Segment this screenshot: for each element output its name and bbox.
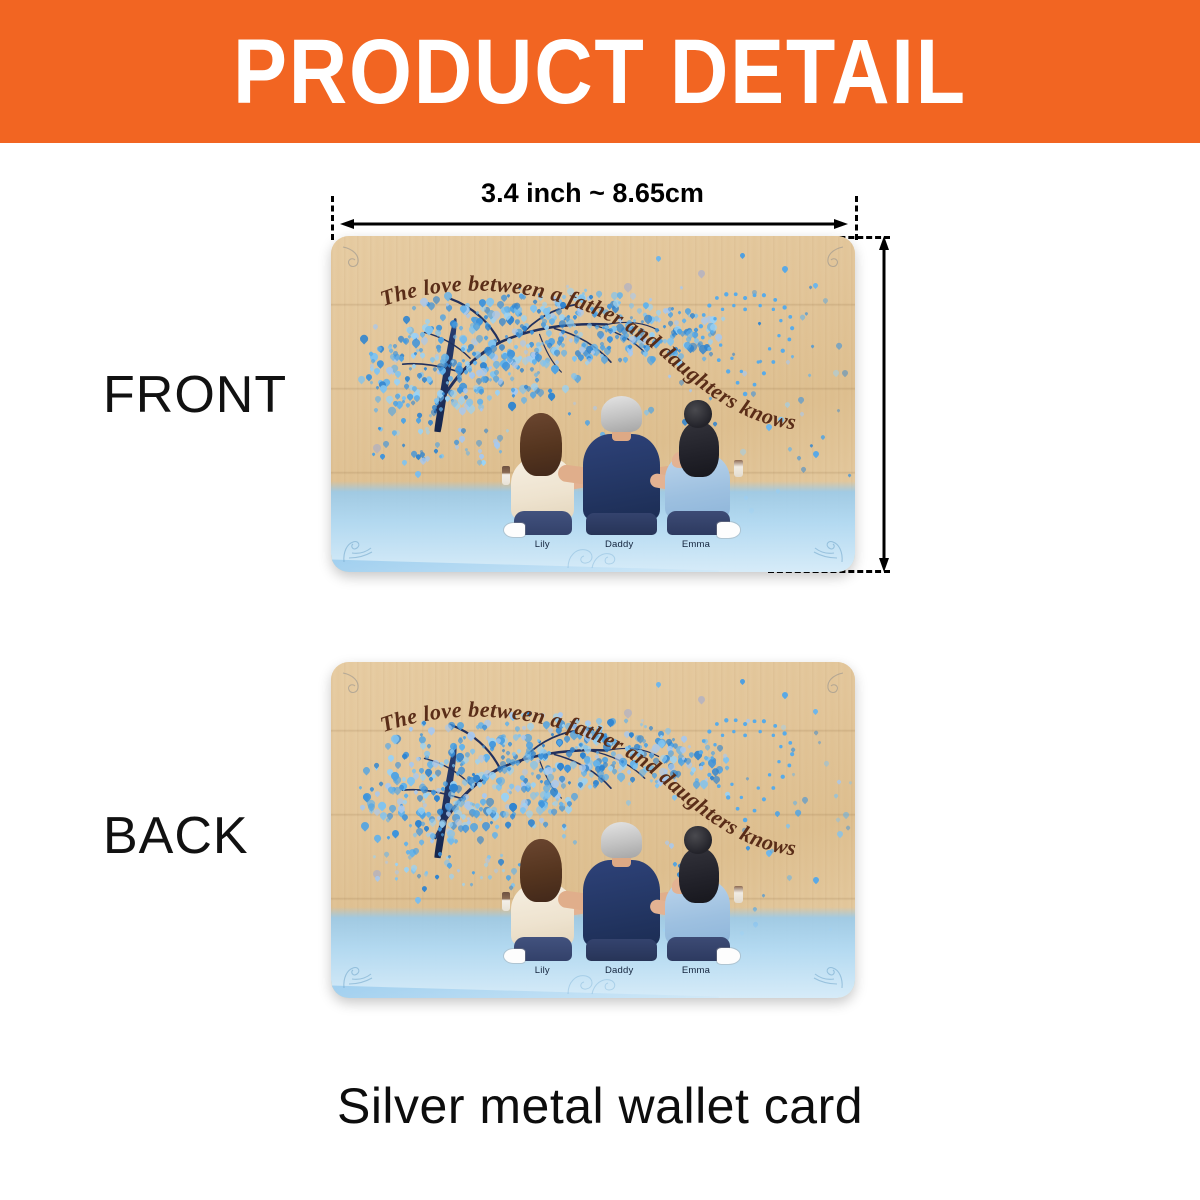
- corner-flourish-icon: [811, 243, 847, 273]
- tree-leaf: [668, 756, 672, 760]
- tree-leaf: [459, 303, 470, 314]
- tree-leaf: [512, 753, 519, 760]
- tree-leaf: [623, 321, 633, 331]
- tree-leaf: [511, 751, 517, 757]
- tree-leaf: [443, 801, 454, 812]
- tree-leaf: [393, 785, 403, 795]
- tree-leaf: [656, 738, 666, 748]
- tree-leaf: [488, 808, 498, 818]
- tree-leaf: [592, 310, 599, 317]
- falling-leaf: [832, 369, 840, 377]
- tree-leaf: [476, 402, 484, 410]
- tree-leaf: [447, 721, 457, 731]
- tree-leaf: [601, 756, 609, 764]
- tree-leaf: [469, 322, 476, 329]
- tree-leaf: [503, 306, 512, 315]
- tree-leaf: [486, 338, 497, 349]
- tree-leaf: [648, 355, 657, 364]
- tree-leaf: [399, 782, 408, 791]
- tree-leaf: [385, 817, 391, 823]
- tree-leaf: [622, 730, 631, 739]
- tree-leaf: [609, 325, 617, 333]
- tree-leaf: [443, 758, 451, 766]
- tree-leaf: [537, 751, 545, 759]
- corner-flourish-icon: [811, 536, 847, 566]
- tree-leaf: [390, 364, 399, 373]
- tree-leaf: [566, 315, 570, 319]
- tree-leaf: [654, 784, 659, 789]
- falling-leaf: [610, 749, 618, 757]
- tree-leaf: [460, 813, 468, 821]
- tree-leaf: [562, 763, 571, 772]
- tree-leaf: [521, 712, 527, 718]
- fallen-leaf: [478, 449, 484, 455]
- tree-leaf: [550, 314, 558, 322]
- tree-leaf: [462, 305, 473, 316]
- tree-leaf: [595, 290, 603, 298]
- tree-leaf: [659, 742, 665, 748]
- tree-leaf: [538, 747, 548, 757]
- fallen-leaf: [434, 875, 439, 880]
- tree-leaf: [541, 318, 548, 325]
- tree-leaf: [482, 306, 490, 314]
- tree-leaf: [498, 343, 507, 352]
- tree-leaf: [473, 388, 477, 392]
- tree-leaf: [457, 381, 468, 392]
- floating-heart-icon: [371, 869, 382, 880]
- tree-leaf: [479, 798, 487, 806]
- tree-leaf: [449, 748, 455, 754]
- falling-leaf: [586, 322, 593, 329]
- tree-leaf: [511, 327, 520, 336]
- tree-leaf: [617, 316, 625, 324]
- tree-leaf: [648, 298, 652, 302]
- tree-leaf: [670, 306, 675, 311]
- tree-leaf: [399, 354, 404, 359]
- tree-leaf: [474, 802, 482, 810]
- tree-leaf: [519, 367, 525, 373]
- fallen-leaf: [377, 426, 381, 430]
- tree-leaf: [378, 781, 383, 786]
- tree-leaf: [475, 310, 480, 315]
- tree-leaf: [478, 388, 485, 395]
- tree-leaf: [578, 742, 583, 747]
- tree-leaf: [392, 400, 399, 407]
- tree-leaf: [432, 794, 441, 803]
- tree-leaf: [538, 754, 545, 761]
- tree-leaf: [373, 808, 381, 816]
- family-figures: [504, 374, 735, 535]
- tree-leaf: [420, 821, 425, 826]
- floating-heart-icon: [623, 281, 634, 292]
- tree-leaf: [373, 762, 380, 769]
- tree-leaf: [655, 309, 662, 316]
- tree-leaf: [471, 783, 475, 787]
- tree-leaf: [436, 362, 446, 372]
- tree-leaf: [468, 325, 478, 335]
- tree-leaf: [555, 343, 560, 348]
- tree-leaf: [582, 349, 591, 358]
- tree-leaf: [587, 784, 592, 789]
- tree-leaf: [577, 331, 584, 338]
- tree-leaf: [535, 759, 540, 764]
- tree-leaf: [628, 335, 637, 344]
- tree-leaf: [550, 295, 556, 301]
- tree-leaf: [504, 722, 509, 727]
- fallen-leaf: [434, 441, 441, 448]
- tree-leaf: [608, 716, 618, 726]
- tree-leaf: [396, 804, 407, 815]
- tree-leaf: [406, 325, 415, 334]
- tree-leaf: [436, 808, 444, 816]
- tree-leaf: [499, 352, 508, 361]
- tree-leaf: [533, 352, 543, 362]
- tree-leaf: [514, 317, 522, 325]
- tree-leaf: [457, 823, 466, 832]
- falling-leaf: [668, 306, 674, 312]
- tree-leaf: [460, 346, 466, 352]
- tree-leaf: [421, 800, 425, 804]
- fallen-leaf: [443, 859, 451, 867]
- tree-leaf: [459, 763, 464, 768]
- floating-heart-icon: [623, 707, 634, 718]
- tree-leaf: [543, 311, 552, 320]
- tree-leaf: [509, 303, 519, 313]
- fallen-leaf: [438, 454, 442, 458]
- tree-leaf: [435, 324, 443, 332]
- tree-leaf: [620, 759, 625, 764]
- tree-leaf: [467, 347, 473, 353]
- tree-leaf: [422, 750, 430, 758]
- tree-leaf: [543, 757, 548, 762]
- fallen-leaf: [458, 428, 463, 433]
- tree-leaf: [453, 838, 459, 844]
- tree-leaf: [629, 754, 634, 759]
- tree-leaf: [569, 729, 580, 740]
- tree-leaf: [505, 349, 516, 360]
- fallen-leaf: [419, 457, 427, 465]
- tree-leaf: [485, 806, 493, 814]
- tree-leaf: [556, 339, 563, 346]
- tree-leaf: [528, 341, 535, 348]
- product-card-back[interactable]: The love between a father and daughters …: [331, 662, 855, 998]
- tree-leaf: [671, 737, 675, 741]
- tree-leaf: [426, 300, 437, 311]
- tree-leaf: [578, 763, 588, 773]
- tree-leaf: [484, 758, 489, 763]
- tree-leaf: [654, 779, 658, 783]
- width-arrow-icon: [340, 218, 848, 230]
- tree-leaf: [456, 376, 463, 383]
- tree-leaf: [646, 302, 654, 310]
- tree-leaf: [420, 720, 427, 727]
- tree-leaf: [581, 292, 585, 296]
- tree-leaf: [445, 810, 452, 817]
- tree-leaf: [443, 722, 454, 733]
- tree-leaf: [652, 756, 660, 764]
- tree-leaf: [667, 761, 676, 770]
- tree-trunk: [434, 318, 459, 432]
- tree-leaf: [468, 807, 478, 817]
- tree-leaf: [544, 765, 555, 776]
- tree-leaf: [536, 308, 542, 314]
- tree-leaf: [624, 745, 631, 752]
- fallen-leaf: [410, 867, 418, 875]
- tree-leaf: [572, 314, 578, 320]
- tree-leaf: [646, 763, 656, 773]
- tree-leaf: [569, 759, 579, 769]
- daddy-jeans: [586, 939, 657, 961]
- tree-leaf: [425, 811, 432, 818]
- tree-leaf: [408, 367, 413, 372]
- tree-leaf: [401, 813, 410, 822]
- tree-leaf: [657, 730, 665, 738]
- falling-leaf: [739, 448, 747, 456]
- tree-leaf: [657, 766, 668, 777]
- floating-heart-icon: [655, 255, 662, 262]
- tree-leaf: [507, 711, 516, 720]
- tree-leaf: [445, 304, 453, 312]
- falling-leaf: [583, 288, 587, 292]
- falling-leaf: [586, 357, 593, 364]
- tree-leaf: [505, 764, 516, 775]
- tree-leaf: [466, 348, 471, 353]
- tree-leaf: [608, 741, 613, 746]
- tree-leaf: [576, 294, 585, 303]
- tree-leaf: [590, 306, 595, 311]
- tree-leaf: [576, 353, 585, 362]
- tree-leaf: [449, 318, 459, 328]
- tree-leaf: [659, 753, 668, 762]
- tree-leaf: [378, 383, 388, 393]
- tree-leaf: [470, 336, 479, 345]
- tree-leaf: [589, 342, 600, 353]
- tree-leaf: [478, 354, 488, 364]
- tree-leaf: [463, 389, 468, 394]
- tree-leaf: [661, 757, 667, 763]
- tree-leaf: [448, 389, 458, 399]
- tree-leaf: [437, 336, 445, 344]
- tree-leaf: [594, 717, 603, 726]
- tree-leaf: [552, 768, 557, 773]
- tree-leaf: [523, 349, 529, 355]
- tree-leaf: [411, 305, 417, 311]
- tree-leaf: [419, 784, 429, 794]
- tree-leaf: [454, 364, 465, 375]
- tree-leaf: [375, 358, 386, 369]
- tree-leaf: [472, 360, 477, 365]
- tree-leaf: [609, 300, 618, 309]
- tree-leaf: [487, 349, 497, 359]
- tree-leaf: [418, 756, 423, 761]
- coffee-cup-icon: [502, 466, 510, 484]
- tree-leaf: [462, 387, 470, 395]
- tree-leaf: [666, 744, 674, 752]
- tree-leaf: [666, 348, 674, 356]
- fallen-leaf: [479, 876, 483, 880]
- tree-leaf: [490, 810, 501, 821]
- falling-leaf: [823, 760, 830, 767]
- tree-leaf: [636, 307, 644, 315]
- tree-leaf: [546, 343, 551, 348]
- tree-leaf: [495, 736, 503, 744]
- tree-leaf: [552, 712, 563, 723]
- tree-leaf: [463, 395, 469, 401]
- extension-line-right: [855, 196, 858, 240]
- tree-leaf: [611, 303, 621, 313]
- tree-leaf: [397, 807, 407, 817]
- tree-leaf: [438, 366, 448, 376]
- tree-leaf: [421, 720, 426, 725]
- tree-leaf: [461, 359, 465, 363]
- tree-leaf: [473, 386, 481, 394]
- tree-leaf: [606, 718, 616, 728]
- tree-leaf: [410, 338, 421, 349]
- tree-leaf: [478, 806, 484, 812]
- tree-leaf: [425, 832, 430, 837]
- tree-leaf: [601, 735, 611, 745]
- tree-leaf: [499, 359, 510, 370]
- tree-leaf: [448, 363, 453, 368]
- tree-leaf: [585, 352, 595, 362]
- tree-leaf: [572, 323, 577, 328]
- tree-leaf: [586, 355, 592, 361]
- tree-leaf: [592, 351, 597, 356]
- tree-leaf: [423, 767, 433, 777]
- tree-leaf: [554, 359, 560, 365]
- tree-leaf: [563, 735, 571, 743]
- fallen-leaf: [478, 453, 485, 460]
- tree-leaf: [584, 344, 593, 353]
- tree-leaf: [412, 847, 420, 855]
- tree-leaf: [651, 772, 658, 779]
- tree-leaf: [365, 798, 376, 809]
- tree-leaf: [395, 400, 405, 410]
- tree-leaf: [501, 748, 505, 752]
- tree-leaf: [407, 335, 412, 340]
- tree-leaf: [492, 339, 497, 344]
- tree-leaf: [537, 294, 544, 301]
- tree-leaf: [421, 782, 425, 786]
- tree-leaf: [369, 380, 373, 384]
- tree-leaf: [489, 316, 497, 324]
- tree-leaf: [548, 345, 558, 355]
- tree-leaf: [554, 715, 562, 723]
- tree-leaf: [556, 711, 564, 719]
- tree-leaf: [622, 356, 629, 363]
- tree-leaf: [451, 803, 461, 813]
- tree-leaf: [522, 732, 533, 743]
- tree-leaf: [599, 341, 605, 347]
- tree-leaf: [568, 720, 578, 730]
- tree-leaf: [544, 357, 550, 363]
- tree-leaf: [384, 781, 392, 789]
- tree-leaf: [488, 365, 493, 370]
- tree-leaf: [472, 802, 477, 807]
- tree-leaf: [513, 305, 524, 316]
- tree-leaf: [468, 805, 477, 814]
- tree-leaf: [637, 768, 647, 778]
- tree-leaf: [372, 323, 379, 330]
- tree-leaf: [476, 834, 486, 844]
- tree-leaf: [596, 764, 601, 769]
- tree-leaf: [663, 754, 671, 762]
- tree-leaf: [542, 767, 551, 776]
- tree-leaf: [436, 347, 442, 353]
- tree-leaf: [468, 822, 479, 833]
- tree-leaf: [541, 301, 548, 308]
- tree-leaf: [419, 296, 430, 307]
- tree-leaf: [611, 760, 617, 766]
- tree-leaf: [663, 339, 669, 345]
- falling-leaf: [810, 443, 815, 448]
- figure-daddy: [580, 396, 663, 535]
- tree-leaf: [529, 351, 536, 358]
- tree-leaf: [450, 359, 454, 363]
- fallen-leaf: [394, 429, 401, 436]
- tree-leaf: [664, 726, 672, 734]
- daddy-jeans: [586, 513, 657, 535]
- fallen-leaf: [480, 459, 487, 466]
- tree-leaf: [373, 367, 382, 376]
- tree-leaf: [555, 726, 564, 735]
- tree-leaf: [426, 791, 431, 796]
- tree-leaf: [382, 378, 391, 387]
- tree-leaf: [393, 378, 401, 386]
- tree-leaf: [505, 757, 512, 764]
- floating-heart-icon: [739, 678, 746, 685]
- emma-hair-bun: [684, 826, 711, 854]
- tree-leaf: [485, 796, 496, 807]
- tree-leaf: [517, 312, 522, 317]
- tree-leaf: [500, 765, 509, 774]
- tree-leaf: [528, 790, 538, 800]
- tree-leaf: [595, 324, 601, 330]
- tree-leaf: [518, 292, 524, 298]
- tree-leaf: [380, 804, 385, 809]
- fallen-leaf: [460, 427, 467, 434]
- tree-leaf: [512, 356, 518, 362]
- tree-leaf: [596, 750, 600, 754]
- floating-heart-icon: [780, 265, 788, 273]
- tree-leaf: [389, 733, 400, 744]
- tree-leaf: [362, 793, 366, 797]
- fallen-leaf: [425, 429, 431, 435]
- tree-leaf: [667, 311, 674, 318]
- tree-leaf: [430, 838, 436, 844]
- tree-leaf: [457, 367, 463, 373]
- tree-leaf: [364, 373, 373, 382]
- tree-leaf: [551, 349, 557, 355]
- tree-leaf: [418, 734, 428, 744]
- tree-leaf: [528, 754, 535, 761]
- product-card-front[interactable]: The love between a father and daughters …: [331, 236, 855, 572]
- tree-leaf: [506, 337, 513, 344]
- tree-leaf: [547, 342, 553, 348]
- tree-leaf: [442, 290, 453, 301]
- floating-heart-icon: [696, 268, 706, 278]
- falling-leaf: [583, 754, 591, 762]
- tree-leaf: [583, 736, 590, 743]
- tree-leaf: [434, 355, 440, 361]
- fallen-leaf: [403, 866, 410, 873]
- daddy-hair: [601, 396, 642, 432]
- tree-leaf: [491, 783, 498, 790]
- tree-leaf: [495, 783, 504, 792]
- fallen-leaf: [483, 862, 488, 867]
- tree-leaf: [481, 773, 490, 782]
- tree-leaf: [476, 771, 485, 780]
